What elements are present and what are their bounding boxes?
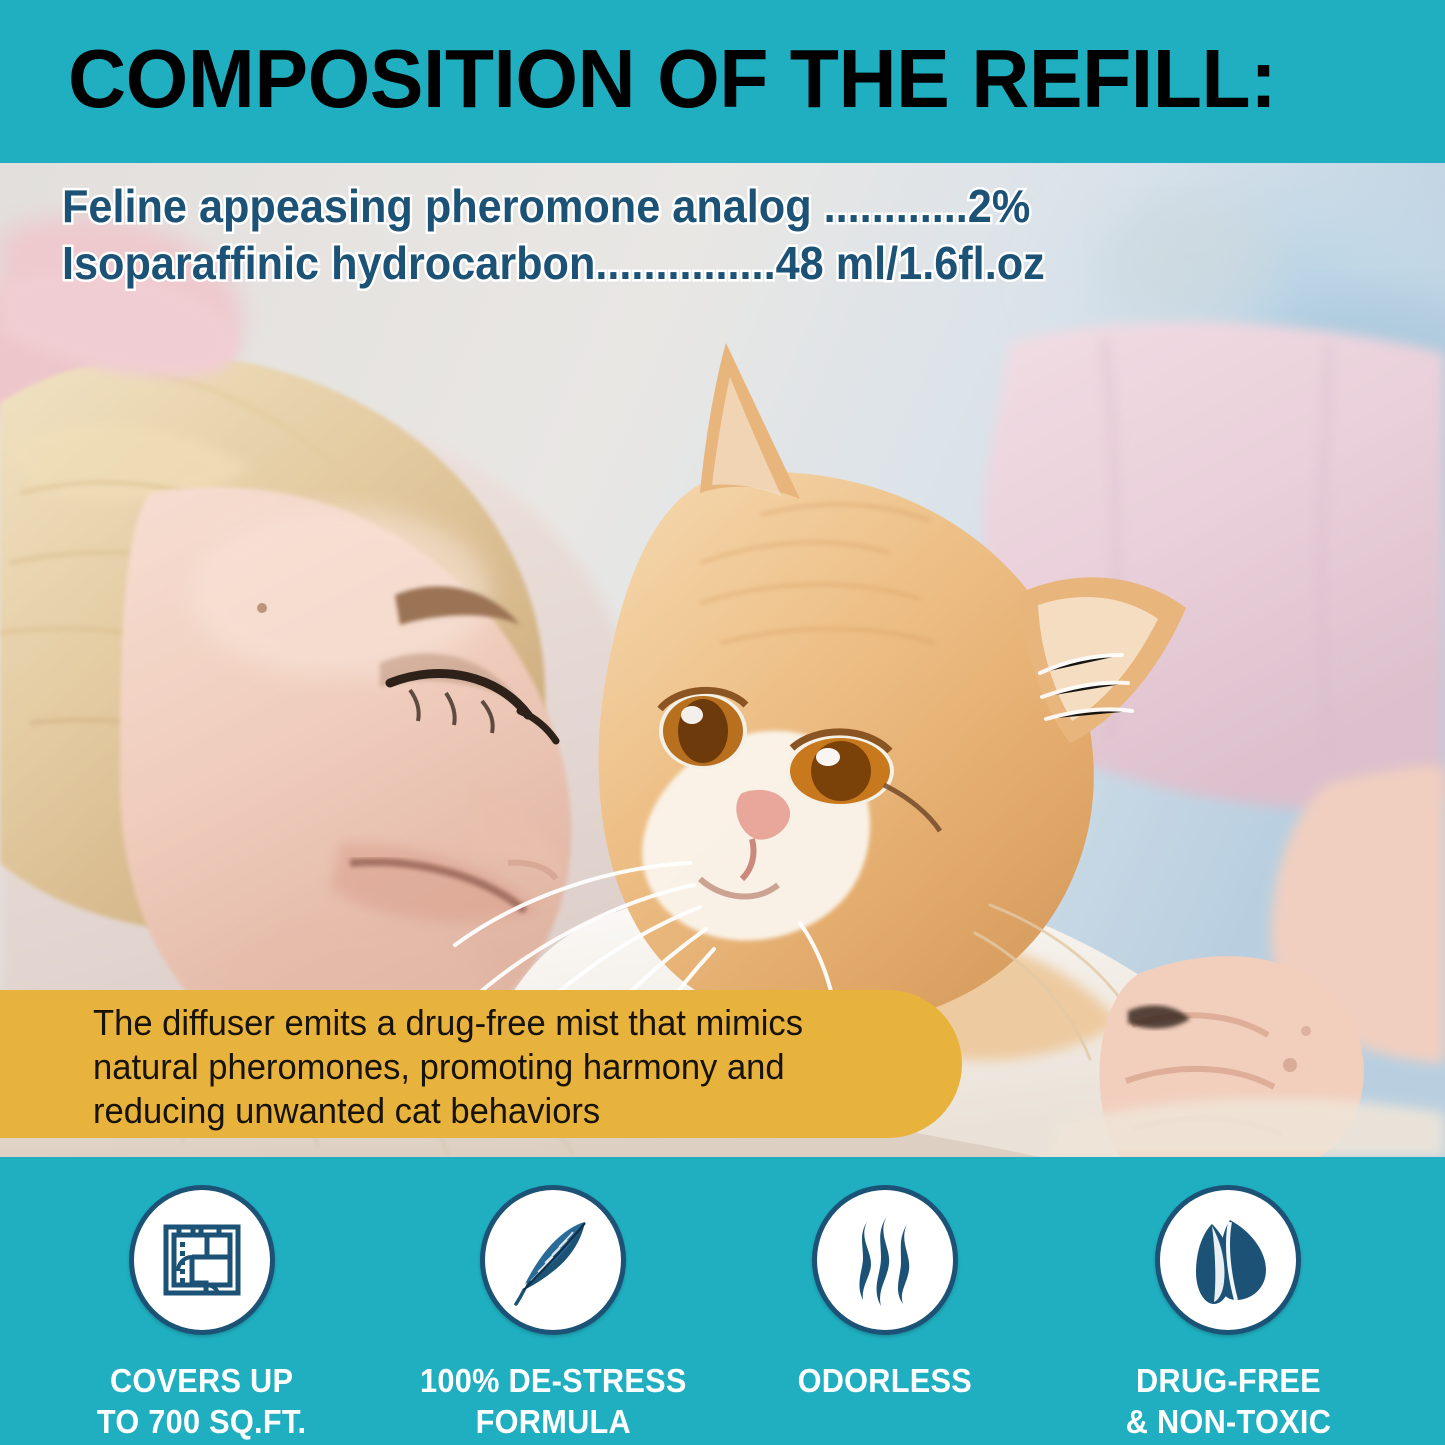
page-title: COMPOSITION OF THE REFILL:: [68, 32, 1276, 126]
odor-waves-icon: [845, 1214, 925, 1306]
feature-label-line: & NON-TOXIC: [1125, 1401, 1330, 1442]
feature-badge: [480, 1185, 626, 1335]
product-infographic: COMPOSITION OF THE REFILL:: [0, 0, 1445, 1445]
floor-plan-icon: [159, 1217, 245, 1303]
callout-line-3: reducing unwanted cat behaviors: [93, 1089, 890, 1133]
callout-line-1: The diffuser emits a drug-free mist that…: [93, 1001, 890, 1045]
feature-label: ODORLESS: [798, 1360, 972, 1401]
feature-badge: [129, 1185, 275, 1335]
composition-list: Feline appeasing pheromone analog ......…: [62, 178, 1045, 292]
feature-label-line: ODORLESS: [798, 1360, 972, 1401]
feature-label-line: TO 700 SQ.FT.: [97, 1401, 306, 1442]
header-band: COMPOSITION OF THE REFILL:: [0, 0, 1445, 163]
callout-text: The diffuser emits a drug-free mist that…: [93, 1001, 890, 1133]
feature-label: DRUG-FREE & NON-TOXIC: [1125, 1360, 1330, 1442]
feature-badge: [812, 1185, 958, 1335]
feature-label-line: DRUG-FREE: [1125, 1360, 1330, 1401]
feature-item-odorless: ODORLESS: [705, 1157, 1065, 1445]
feature-badge: [1155, 1185, 1301, 1335]
feature-label-line: COVERS UP: [97, 1360, 306, 1401]
feather-icon: [507, 1214, 599, 1306]
feature-item-coverage: COVERS UP TO 700 SQ.FT.: [22, 1157, 382, 1445]
callout-line-2: natural pheromones, promoting harmony an…: [93, 1045, 890, 1089]
composition-line-2: Isoparaffinic hydrocarbon...............…: [62, 235, 1045, 292]
feature-label-line: FORMULA: [420, 1401, 687, 1442]
feature-item-destress: 100% DE-STRESS FORMULA: [373, 1157, 733, 1445]
composition-line-1: Feline appeasing pheromone analog ......…: [62, 178, 1045, 235]
feature-label: COVERS UP TO 700 SQ.FT.: [97, 1360, 306, 1442]
feature-label: 100% DE-STRESS FORMULA: [420, 1360, 687, 1442]
feature-item-drugfree: DRUG-FREE & NON-TOXIC: [1048, 1157, 1408, 1445]
leaves-icon: [1182, 1214, 1274, 1306]
feature-label-line: 100% DE-STRESS: [420, 1360, 687, 1401]
feature-band: COVERS UP TO 700 SQ.FT.: [0, 1157, 1445, 1445]
